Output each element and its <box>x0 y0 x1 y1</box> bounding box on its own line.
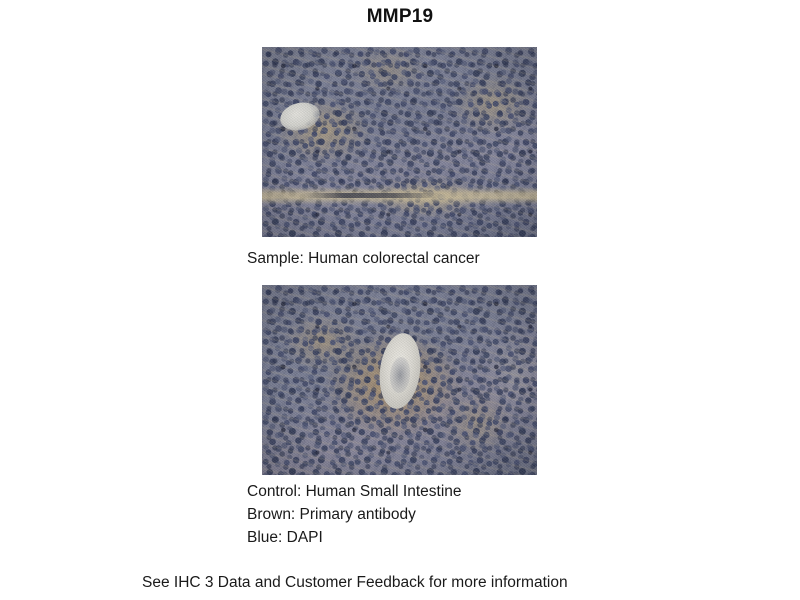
image-vignette-layer <box>262 47 537 237</box>
ihc-micrograph-small-intestine <box>262 285 537 475</box>
figure-title: MMP19 <box>0 6 800 28</box>
footer-note: See IHC 3 Data and Customer Feedback for… <box>142 574 568 592</box>
caption-brown: Brown: Primary antibody <box>247 506 462 524</box>
caption-control: Control: Human Small Intestine <box>247 483 462 501</box>
image-vignette-layer <box>262 285 537 475</box>
caption-blue: Blue: DAPI <box>247 529 462 547</box>
caption-sample: Sample: Human colorectal cancer <box>247 250 480 268</box>
caption-block: Control: Human Small Intestine Brown: Pr… <box>247 483 462 552</box>
ihc-micrograph-colorectal-cancer <box>262 47 537 237</box>
